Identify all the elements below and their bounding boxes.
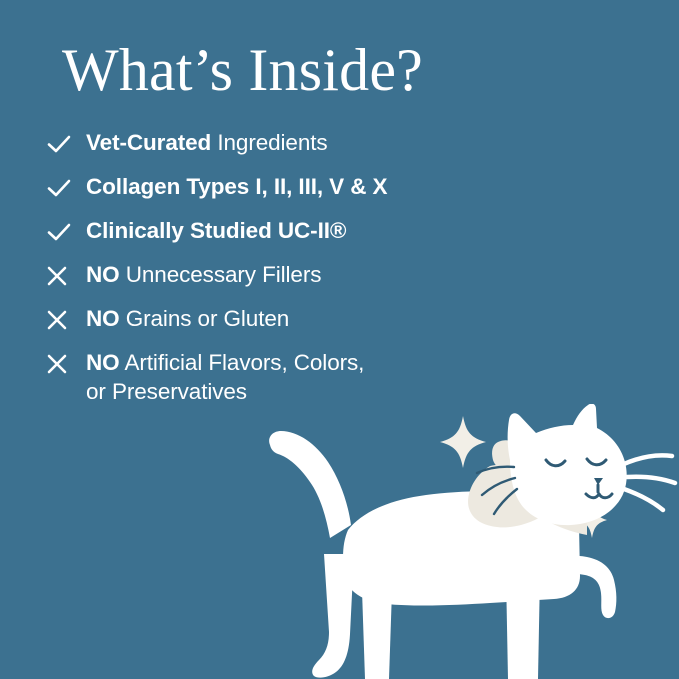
- list-item-lead: Clinically Studied UC-II®: [86, 218, 346, 243]
- list-item-rest: Grains or Gluten: [120, 306, 290, 331]
- list-item: Vet-Curated Ingredients: [46, 128, 606, 158]
- page-title: What’s Inside?: [62, 38, 423, 103]
- list-item-text: NO Grains or Gluten: [86, 304, 606, 333]
- cat-illustration: [258, 404, 679, 679]
- list-item: NO Grains or Gluten: [46, 304, 606, 334]
- list-item-lead: NO: [86, 306, 120, 331]
- list-item-rest: Ingredients: [211, 130, 327, 155]
- check-icon: [46, 172, 86, 202]
- list-item-lead: Collagen Types I, II, III, V & X: [86, 174, 387, 199]
- cat-tail: [269, 431, 351, 538]
- check-icon: [46, 216, 86, 246]
- list-item-text: Collagen Types I, II, III, V & X: [86, 172, 606, 201]
- list-item: NO Artificial Flavors, Colors,or Preserv…: [46, 348, 606, 406]
- list-item: Collagen Types I, II, III, V & X: [46, 172, 606, 202]
- list-item-text: NO Unnecessary Fillers: [86, 260, 606, 289]
- check-icon: [46, 128, 86, 158]
- list-item-text: NO Artificial Flavors, Colors,or Preserv…: [86, 348, 606, 406]
- list-item: Clinically Studied UC-II®: [46, 216, 606, 246]
- list-item-text: Vet-Curated Ingredients: [86, 128, 606, 157]
- list-item-lead: NO: [86, 262, 120, 287]
- cross-icon: [46, 348, 86, 378]
- cross-icon: [46, 260, 86, 290]
- list-item-lead: NO: [86, 350, 120, 375]
- list-item-rest: Unnecessary Fillers: [120, 262, 322, 287]
- list-item: NO Unnecessary Fillers: [46, 260, 606, 290]
- whats-inside-poster: What’s Inside? Vet-Curated Ingredients C…: [0, 0, 679, 679]
- list-item-text: Clinically Studied UC-II®: [86, 216, 606, 245]
- benefit-list: Vet-Curated Ingredients Collagen Types I…: [46, 128, 606, 406]
- cat-head: [508, 404, 627, 525]
- list-item-line2: or Preservatives: [86, 379, 247, 404]
- sparkle-large: [440, 416, 486, 468]
- cross-icon: [46, 304, 86, 334]
- list-item-lead: Vet-Curated: [86, 130, 211, 155]
- cat-whiskers: [624, 455, 675, 510]
- list-item-rest: Artificial Flavors, Colors,: [120, 350, 365, 375]
